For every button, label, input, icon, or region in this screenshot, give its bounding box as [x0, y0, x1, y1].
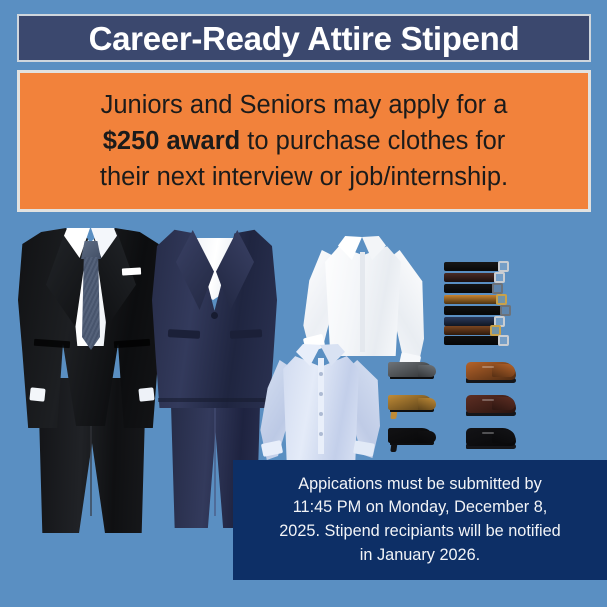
blazer-button: [211, 312, 218, 319]
shoe-laces-icon: [482, 399, 494, 401]
shoes-image: [388, 362, 528, 458]
belt-buckle-icon: [494, 272, 505, 283]
blue-dress-shirt-image: [258, 344, 380, 466]
shoe-laces-icon: [482, 432, 494, 434]
flyer-canvas: Career-Ready Attire Stipend Juniors and …: [0, 0, 607, 607]
belt-item: [444, 284, 494, 293]
shoe-laces-icon: [482, 366, 494, 368]
blazer-pocket-left: [168, 329, 200, 339]
belt-buckle-icon: [498, 335, 509, 346]
belt-item: [444, 295, 498, 304]
deadline-line-1: Appications must be submitted by: [298, 475, 541, 493]
blouse-placket: [360, 252, 365, 352]
deadline-line-2: 11:45 PM on Monday, December 8,: [293, 498, 548, 516]
shirt-button: [319, 432, 323, 436]
belt-item: [444, 326, 492, 335]
belt-item: [444, 336, 500, 345]
shoe-toe: [418, 398, 436, 410]
shirt-button: [319, 412, 323, 416]
shoe-vamp: [492, 364, 515, 377]
shirt-button: [319, 392, 323, 396]
pocket-square: [122, 268, 141, 276]
deadline-panel: Appications must be submitted by 11:45 P…: [233, 460, 607, 580]
shoe-toe: [418, 431, 436, 443]
deadline-line-3: 2025. Stipend recipiants will be notifie…: [279, 522, 560, 540]
shirt-cuff-left: [261, 440, 283, 457]
shoe-vamp: [492, 397, 515, 410]
belt-item: [444, 306, 502, 315]
belt-buckle-icon: [500, 305, 511, 316]
shirt-cuff-left: [29, 387, 45, 401]
belt-item: [444, 273, 496, 282]
necktie-icon: [82, 257, 100, 350]
mens-suit-image: [18, 228, 163, 533]
belt-item: [444, 317, 496, 326]
shirt-button: [319, 372, 323, 376]
belt-buckle-icon: [492, 283, 503, 294]
blazer-hem: [158, 398, 271, 402]
deadline-text: Appications must be submitted by 11:45 P…: [279, 473, 560, 568]
belt-buckle-icon: [498, 261, 509, 272]
deadline-line-4: in January 2026.: [360, 546, 480, 564]
belt-item: [444, 262, 500, 271]
shoe-vamp: [492, 430, 515, 443]
blazer-pocket-right: [230, 329, 262, 339]
shoe-toe: [418, 365, 436, 377]
shirt-cuff-right: [353, 440, 375, 456]
belt-buckle-icon: [496, 294, 507, 305]
belt-stack-image: [444, 262, 518, 346]
